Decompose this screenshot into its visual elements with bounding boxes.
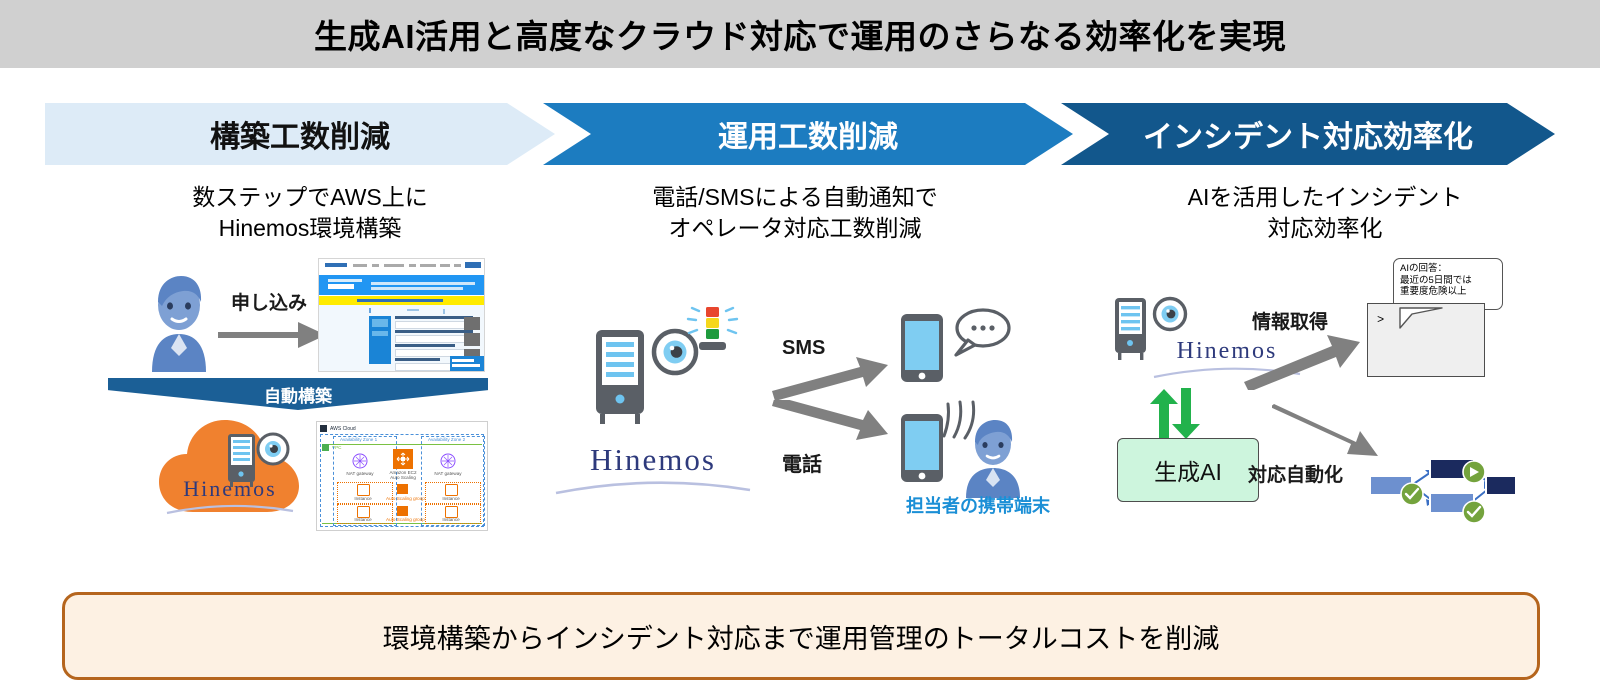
ec2-autoscaling-label: Amazon EC2 Auto Scaling	[385, 470, 421, 481]
genai-exchange-arrows-icon	[1145, 388, 1207, 440]
hinemos-swoosh-center	[553, 478, 753, 496]
nat-gateway-label-2: NAT gateway	[430, 471, 466, 476]
operator-device-label: 担当者の携帯端末	[878, 492, 1078, 518]
chevron-step-1-label: 構築工数削減	[210, 112, 390, 156]
availability-zone-2-label: Availability Zone 2	[428, 437, 465, 442]
auto-build-band: 自動構築	[108, 378, 488, 410]
instance-label-1: Instance	[347, 496, 379, 501]
chevron-step-2-label: 運用工数削減	[718, 112, 898, 156]
fetch-info-arrow-icon	[1242, 330, 1362, 390]
alarm-light-icon	[680, 304, 744, 360]
terminal-prompt: >	[1377, 313, 1384, 327]
chevron-step-1[interactable]: 構築工数削減	[45, 103, 555, 165]
automation-workflow-diagram	[1368, 440, 1518, 526]
summary-text: 環境構築からインシデント対応まで運用管理のトータルコストを削減	[383, 617, 1219, 656]
aws-architecture-diagram: AWS Cloud VPC Availability Zone 1 Availa…	[316, 421, 488, 531]
signup-browser-screenshot	[318, 258, 485, 372]
column-1-caption: 数ステップでAWS上に Hinemos環境構築	[110, 182, 510, 244]
speech-bubble-icon	[950, 306, 1012, 358]
autoscaling-group-label-2: Auto Scaling group	[386, 517, 419, 522]
column-3-caption: AIを活用したインシデント 対応効率化	[1075, 182, 1575, 244]
server-icon-right	[1110, 296, 1156, 362]
auto-build-label: 自動構築	[108, 382, 488, 407]
hinemos-swoosh-cloud	[165, 503, 295, 515]
column-1-caption-line-1: 数ステップでAWS上に	[110, 182, 510, 213]
column-3-caption-line-2: 対応効率化	[1075, 213, 1575, 244]
eye-icon-cloud	[256, 432, 290, 466]
instance-label-4: Instance	[435, 517, 467, 522]
ai-answer-line-3: 重要度危険以上	[1400, 286, 1497, 298]
ai-answer-line-2: 最近の5日間では	[1400, 275, 1497, 287]
chevron-step-3-label: インシデント対応効率化	[1143, 112, 1473, 156]
hinemos-wordmark-cloud-text: Hinemos	[165, 476, 295, 502]
slide-title-band: 生成AI活用と高度なクラウド対応で運用のさらなる効率化を実現	[0, 0, 1600, 68]
hinemos-wordmark-center: Hinemos	[553, 442, 753, 501]
aws-cloud-label: AWS Cloud	[330, 426, 356, 432]
ai-answer-line-1: AIの回答：	[1400, 263, 1497, 275]
genai-box[interactable]: 生成AI	[1117, 438, 1259, 502]
column-2-caption-line-1: 電話/SMSによる自動通知で	[545, 182, 1045, 213]
apply-label: 申し込み	[231, 288, 307, 315]
tel-label: 電話	[782, 448, 822, 477]
chevron-step-3[interactable]: インシデント対応効率化	[1061, 103, 1555, 165]
ai-bubble-tail-icon	[1398, 306, 1444, 330]
process-chevron-banner: 構築工数削減 運用工数削減 インシデント対応効率化	[45, 103, 1555, 165]
availability-zone-1-label: Availability Zone 1	[340, 437, 377, 442]
sms-arrow-icon	[770, 355, 890, 401]
hinemos-wordmark-cloud: Hinemos	[165, 476, 295, 520]
hinemos-wordmark-center-text: Hinemos	[553, 442, 753, 478]
person-icon	[140, 272, 218, 372]
server-icon-center	[588, 328, 660, 428]
instance-label-2: Instance	[347, 517, 379, 522]
automate-label: 対応自動化	[1248, 460, 1343, 487]
ec2-autoscaling-icon	[396, 452, 410, 466]
apply-arrow-icon	[218, 318, 328, 352]
column-1-caption-line-2: Hinemos環境構築	[110, 213, 510, 244]
nat-gateway-icon-2	[440, 453, 456, 469]
tel-arrow-icon	[770, 400, 890, 446]
autoscaling-group-label-1: Auto Scaling group	[386, 496, 419, 501]
eye-icon-right	[1152, 296, 1188, 332]
automate-arrow-icon	[1272, 398, 1382, 458]
instance-label-3: Instance	[435, 496, 467, 501]
column-3-caption-line-1: AIを活用したインシデント	[1075, 182, 1575, 213]
summary-box: 環境構築からインシデント対応まで運用管理のトータルコストを削減	[62, 592, 1540, 680]
page-title: 生成AI活用と高度なクラウド対応で運用のさらなる効率化を実現	[314, 10, 1286, 58]
nat-gateway-label-1: NAT gateway	[342, 471, 378, 476]
chevron-step-2[interactable]: 運用工数削減	[543, 103, 1073, 165]
smartphone-icon-sms	[898, 312, 946, 384]
column-2-caption-line-2: オペレータ対応工数削減	[545, 213, 1045, 244]
nat-gateway-icon-1	[352, 453, 368, 469]
column-2-caption: 電話/SMSによる自動通知で オペレータ対応工数削減	[545, 182, 1045, 244]
genai-label: 生成AI	[1154, 453, 1222, 487]
operator-person-icon	[958, 418, 1028, 498]
